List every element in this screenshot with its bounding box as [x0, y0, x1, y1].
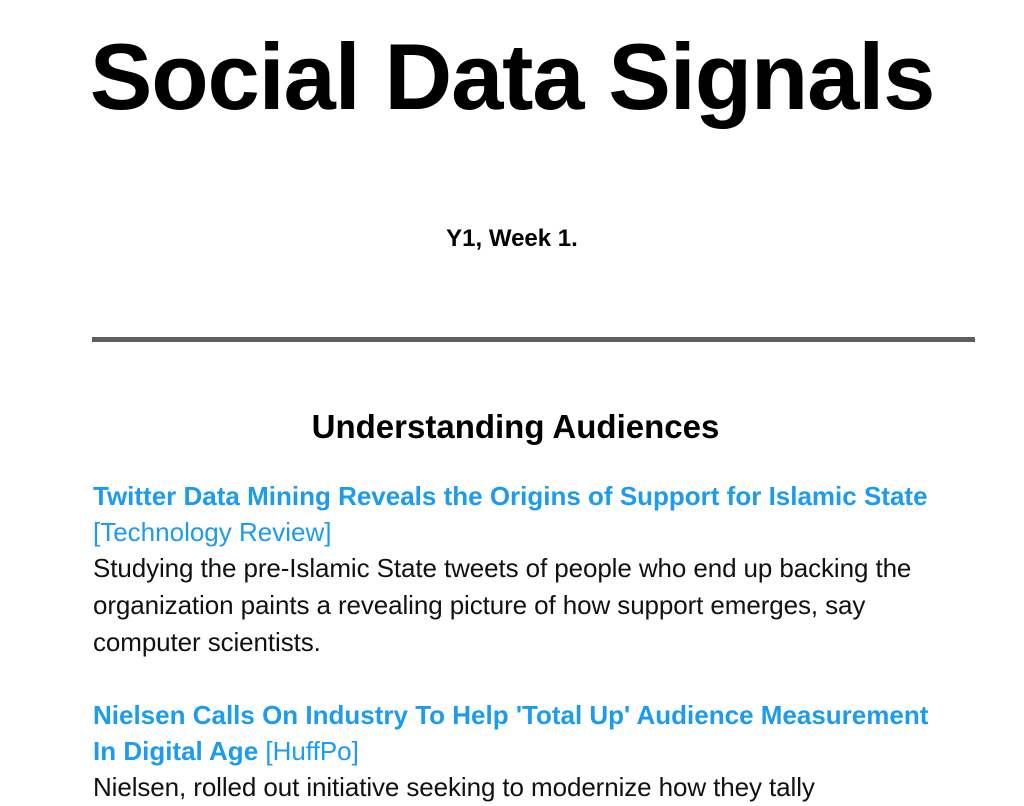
list-item: Nielsen Calls On Industry To Help 'Total… [93, 697, 938, 806]
issue-label: Y1, Week 1. [0, 128, 1024, 254]
article-headline: Nielsen Calls On Industry To Help 'Total… [93, 697, 938, 769]
newsletter-page: Social Data Signals Y1, Week 1. Understa… [0, 0, 1024, 805]
article-summary: Nielsen, rolled out initiative seeking t… [93, 769, 938, 806]
article-source[interactable]: [Technology Review] [93, 517, 331, 547]
page-title: Social Data Signals [0, 26, 1024, 128]
article-source[interactable]: [HuffPo] [265, 736, 358, 766]
newsletter-content: Understanding Audiences Twitter Data Min… [0, 342, 1024, 805]
list-item: Twitter Data Mining Reveals the Origins … [93, 478, 938, 661]
article-summary: Studying the pre-Islamic State tweets of… [93, 550, 938, 661]
article-link[interactable]: Nielsen Calls On Industry To Help 'Total… [93, 700, 928, 766]
masthead: Social Data Signals Y1, Week 1. [0, 0, 1024, 253]
article-list: Twitter Data Mining Reveals the Origins … [93, 448, 938, 806]
divider-container [0, 253, 1024, 342]
article-link[interactable]: Twitter Data Mining Reveals the Origins … [93, 481, 928, 511]
article-headline: Twitter Data Mining Reveals the Origins … [93, 478, 938, 550]
section-heading-understanding-audiences: Understanding Audiences [93, 342, 938, 447]
